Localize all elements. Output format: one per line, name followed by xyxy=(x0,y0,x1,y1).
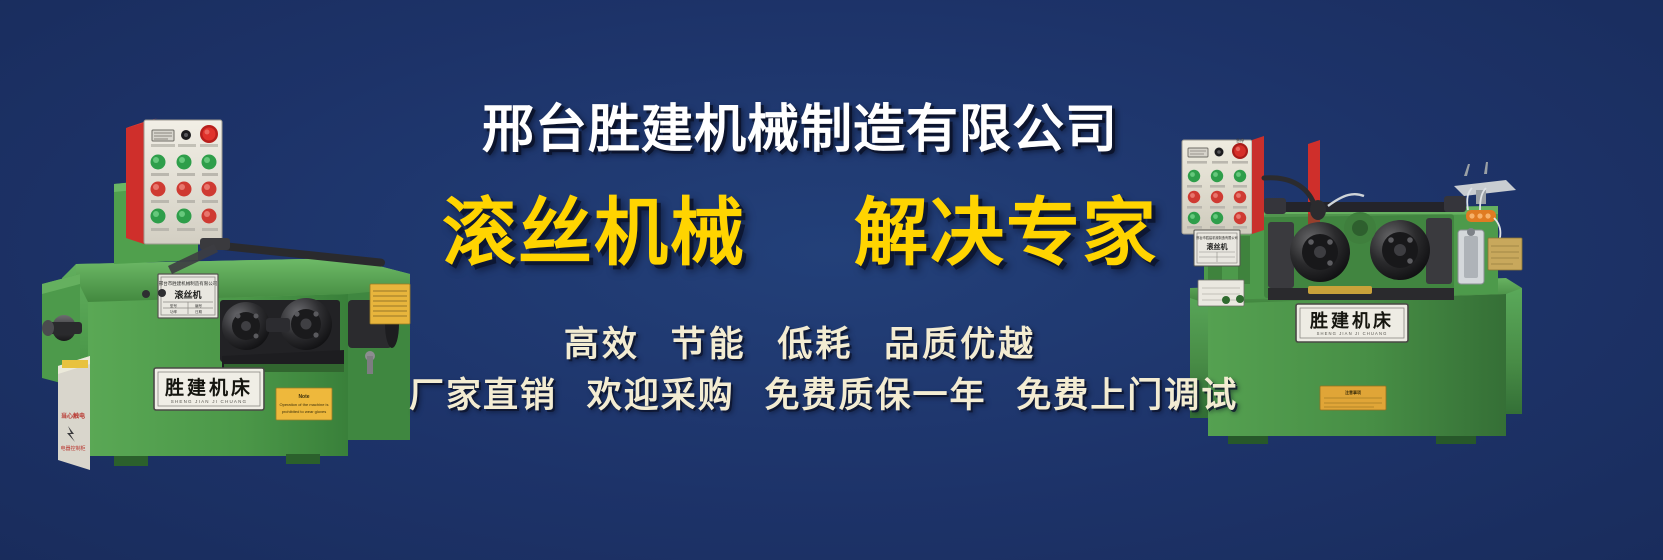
right-machine-small-label xyxy=(1198,280,1244,306)
right-machine-valve-unit xyxy=(1458,228,1484,284)
svg-text:急停: 急停 xyxy=(1236,137,1244,143)
deck-knob[interactable] xyxy=(142,290,150,298)
svg-text:编号: 编号 xyxy=(195,303,202,308)
subtitle-1-seg-3: 低耗 xyxy=(777,325,853,364)
left-machine-left-shaft-end xyxy=(42,320,54,336)
left-machine-nameplate: 胜建机床 SHENG JIAN JI CHUANG xyxy=(154,368,264,410)
right-machine-spec-plate: 邢台市胜建机械制造有限公司 滚丝机 xyxy=(1194,230,1240,266)
left-machine-spec-plate: 邢台市胜建机械制造有限公司 滚丝机 型号 编号 功率 日期 xyxy=(158,274,218,318)
svg-text:prohibited to wear gloves: prohibited to wear gloves xyxy=(282,409,326,414)
slide-block-left xyxy=(1268,222,1294,288)
right-machine-gold-plate xyxy=(1488,238,1522,270)
promo-banner: 邢台市胜建机械制造有限公司 滚丝机 型号 编号 功率 日期 xyxy=(0,0,1663,560)
right-machine-nameplate: 胜建机床 SHENG JIAN JI CHUANG xyxy=(1296,304,1408,342)
svg-text:滚丝机: 滚丝机 xyxy=(1207,242,1228,251)
control-panel-side-red xyxy=(126,122,144,244)
headline-row: 滚丝机械 解决专家 xyxy=(400,196,1200,270)
deck-knob[interactable] xyxy=(158,289,166,297)
subtitle-1-seg-2: 节能 xyxy=(671,325,747,364)
left-machine-warning-label: Note Operation of the machine is prohibi… xyxy=(276,388,332,420)
svg-text:功率: 功率 xyxy=(170,309,177,314)
headline-left: 滚丝机械 xyxy=(442,196,746,270)
left-machine-side-cabinet: 当心触电 电器控制柜 xyxy=(58,356,90,470)
deck-knob[interactable] xyxy=(1222,296,1230,304)
svg-text:电器控制柜: 电器控制柜 xyxy=(60,445,85,452)
company-name: 邢台胜建机械制造有限公司 xyxy=(400,104,1200,156)
svg-text:胜建机床: 胜建机床 xyxy=(1310,310,1394,331)
subtitle-line-2: 厂家直销 欢迎采购 免费质保一年 免费上门调试 xyxy=(400,378,1200,413)
svg-text:日期: 日期 xyxy=(195,309,202,314)
svg-text:Operation of the machine is: Operation of the machine is xyxy=(280,402,329,407)
svg-text:邢台市胜建机械制造有限公司: 邢台市胜建机械制造有限公司 xyxy=(1196,235,1237,240)
svg-text:胜建机床: 胜建机床 xyxy=(165,376,253,399)
subtitle-2-seg-2: 欢迎采购 xyxy=(587,376,735,415)
left-machine-illustration: 邢台市胜建机械制造有限公司 滚丝机 型号 编号 功率 日期 xyxy=(18,88,438,478)
svg-text:注意事项: 注意事项 xyxy=(1345,389,1361,395)
left-machine-rolling-head xyxy=(220,298,344,372)
svg-text:滚丝机: 滚丝机 xyxy=(174,289,201,300)
subtitle-2-seg-3: 免费质保一年 xyxy=(765,376,987,415)
left-machine-control-panel xyxy=(126,118,222,244)
headline-right: 解决专家 xyxy=(854,196,1158,270)
right-machine-rolling-head xyxy=(1264,212,1454,300)
subtitle-1-seg-1: 高效 xyxy=(564,325,640,364)
right-machine-cross-bar xyxy=(1266,202,1462,212)
control-panel-button-grid xyxy=(151,155,217,224)
svg-text:Note: Note xyxy=(298,394,309,400)
svg-text:SHENG JIAN JI CHUANG: SHENG JIAN JI CHUANG xyxy=(1317,331,1388,336)
subtitle-line-1: 高效 节能 低耗 品质优越 xyxy=(400,327,1200,362)
deck-knob[interactable] xyxy=(1236,295,1244,303)
subtitle-2-seg-4: 免费上门调试 xyxy=(1016,376,1238,415)
left-machine: 邢台市胜建机械制造有限公司 滚丝机 型号 编号 功率 日期 xyxy=(18,88,438,478)
svg-text:邢台市胜建机械制造有限公司: 邢台市胜建机械制造有限公司 xyxy=(159,280,218,287)
text-column: 邢台胜建机械制造有限公司 滚丝机械 解决专家 高效 节能 低耗 品质优越 厂家直… xyxy=(400,0,1200,560)
right-machine-caution-plate: 注意事项 xyxy=(1320,386,1386,410)
svg-text:SHENG JIAN JI CHUANG: SHENG JIAN JI CHUANG xyxy=(171,399,248,404)
svg-text:当心触电: 当心触电 xyxy=(61,412,85,420)
subtitle-1-seg-4: 品质优越 xyxy=(884,325,1036,364)
control-panel-right-red xyxy=(1252,136,1264,234)
subtitle-2-seg-1: 厂家直销 xyxy=(409,376,557,415)
svg-text:型号: 型号 xyxy=(170,303,177,308)
